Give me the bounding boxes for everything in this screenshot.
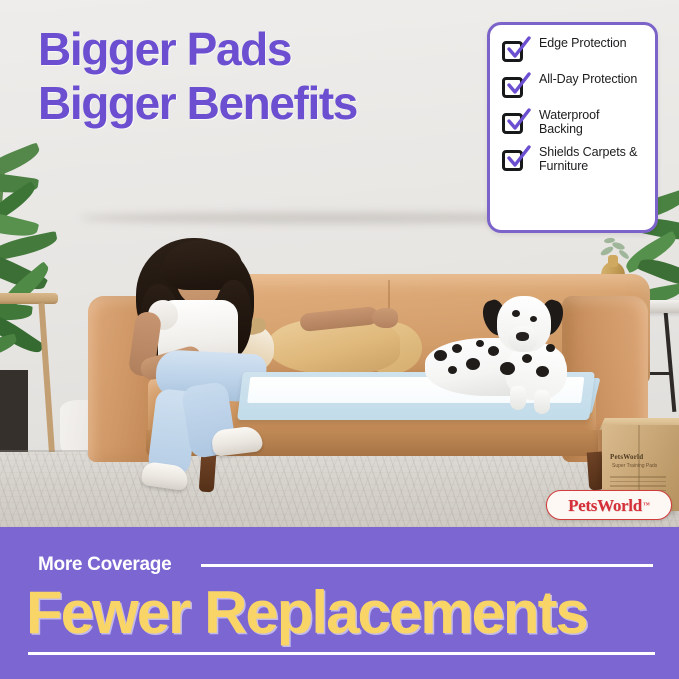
woman-hand [372, 308, 398, 328]
house-plant-left-icon [0, 152, 100, 367]
dalmatian-paw [534, 390, 550, 414]
dalmatian-spot [448, 366, 457, 374]
feature-label: Waterproof Backing [539, 107, 645, 136]
box-tagline: Super Training Pads [612, 463, 666, 470]
banner-headline: Fewer Replacements [26, 581, 656, 645]
checkbox-checked-icon [502, 73, 530, 99]
dalmatian-spot [434, 350, 447, 361]
vase-neck [608, 255, 618, 267]
headline-line-1: Bigger Pads [38, 23, 291, 75]
headline-line-2: Bigger Benefits [38, 76, 458, 130]
page-title: Bigger Pads Bigger Benefits [38, 22, 458, 130]
sofa-leg [199, 454, 217, 493]
checkbox-checked-icon [502, 37, 530, 63]
feature-label: Shields Carpets & Furniture [539, 144, 645, 173]
feature-label: All-Day Protection [539, 71, 637, 87]
brand-logo-text: PetsWorld [568, 497, 642, 514]
feature-item: Waterproof Backing [502, 107, 645, 136]
trademark-symbol: ™ [643, 502, 650, 509]
dalmatian-paw [510, 386, 526, 410]
bottom-banner: More Coverage Fewer Replacements [0, 527, 679, 679]
feature-item: All-Day Protection [502, 71, 645, 99]
checkbox-checked-icon [502, 146, 530, 172]
box-brand-logo: PetsWorld [610, 452, 668, 463]
dalmatian-spot [476, 340, 484, 347]
left-side-table-top [0, 293, 58, 304]
product-marketing-image: PetsWorld Super Training Pads Bigger Pad… [0, 0, 679, 679]
dalmatian-spot [530, 316, 537, 322]
feature-item: Shields Carpets & Furniture [502, 144, 645, 173]
dalmatian-spot [512, 310, 520, 317]
banner-divider-bottom [28, 652, 655, 655]
banner-divider-top [201, 564, 653, 567]
dalmatian-nose [516, 332, 529, 341]
dalmatian-spot [536, 366, 549, 377]
dalmatian-spot [452, 344, 462, 353]
feature-item: Edge Protection [502, 35, 645, 63]
feature-checklist-card: Edge Protection All-Day Protection Water… [487, 22, 658, 233]
dalmatian-spot [522, 354, 532, 363]
checkbox-checked-icon [502, 109, 530, 135]
dalmatian-spot [500, 362, 515, 375]
dalmatian-spot [466, 358, 480, 370]
brand-logo: PetsWorld ™ [546, 490, 672, 520]
banner-top-row: More Coverage [38, 554, 653, 576]
feature-label: Edge Protection [539, 35, 626, 51]
left-dark-furniture [0, 370, 28, 460]
banner-subheading: More Coverage [38, 554, 171, 576]
dalmatian-spot [488, 346, 499, 356]
dalmatian-spot [546, 344, 555, 352]
